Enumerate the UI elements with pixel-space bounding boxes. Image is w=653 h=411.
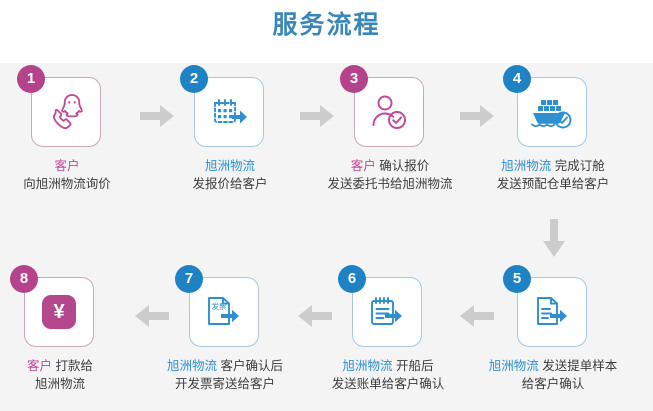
step-3-label: 客户 确认报价: [315, 158, 465, 175]
step-4-number-badge: 4: [503, 65, 531, 93]
step-2-description: 发报价给客户: [155, 175, 305, 193]
step-5-action: 发送提单样本: [542, 359, 617, 373]
step-2-label: 旭洲物流: [155, 158, 305, 175]
step-1-label: 客户: [0, 158, 142, 175]
invoice-arrow-icon: 发票: [201, 292, 247, 332]
step-7-card-wrap: 7 发票: [189, 277, 261, 349]
step-2-actor: 旭洲物流: [205, 159, 255, 173]
step-1-card-wrap: 1: [31, 77, 103, 149]
step-4-action: 完成订舱: [555, 159, 605, 173]
step-1-actor: 客户: [54, 159, 79, 173]
flow-step-5[interactable]: 5 旭洲物流 发送提单样本 给客户确认: [478, 277, 628, 393]
step-8-card-wrap: 8 ¥: [24, 277, 96, 349]
step-6-action: 开船后: [396, 359, 434, 373]
step-6-number-badge: 6: [338, 265, 366, 293]
qq-penguin-phone-icon: [42, 88, 90, 136]
yen-payment-icon: ¥: [42, 295, 76, 329]
arrow-4-to-5: [541, 217, 567, 261]
yen-symbol: ¥: [42, 295, 76, 329]
step-4-actor: 旭洲物流: [501, 159, 551, 173]
step-1-number-badge: 1: [17, 65, 45, 93]
step-3-description: 发送委托书给旭洲物流: [315, 175, 465, 193]
step-7-number-badge: 7: [175, 265, 203, 293]
step-3-number-badge: 3: [340, 65, 368, 93]
flow-diagram-panel: 1 客户 向旭洲物流询价: [0, 63, 653, 411]
step-7-actor: 旭洲物流: [167, 359, 217, 373]
step-6-label: 旭洲物流 开船后: [313, 358, 463, 375]
document-arrow-icon: [529, 292, 575, 332]
step-7-action: 客户确认后: [220, 359, 283, 373]
notepad-arrow-icon: [364, 292, 410, 332]
step-4-card-wrap: 4: [517, 77, 589, 149]
step-6-description: 发送账单给客户确认: [313, 375, 463, 393]
flow-step-3[interactable]: 3 客户 确认报价 发送委托书给旭洲物流: [315, 77, 465, 193]
flow-step-2[interactable]: 2: [155, 77, 305, 193]
step-5-label: 旭洲物流 发送提单样本: [478, 358, 628, 375]
step-3-card-wrap: 3: [354, 77, 426, 149]
quote-calendar-arrow-icon: [207, 92, 251, 132]
step-5-number-badge: 5: [503, 265, 531, 293]
step-8-description: 旭洲物流: [0, 375, 135, 393]
step-5-description: 给客户确认: [478, 375, 628, 393]
step-8-action: 打款给: [55, 359, 93, 373]
step-7-description: 开发票寄送给客户: [150, 375, 300, 393]
cargo-ship-check-icon: [529, 91, 575, 133]
step-8-label: 客户 打款给: [0, 358, 135, 375]
step-6-card-wrap: 6: [352, 277, 424, 349]
step-1-description: 向旭洲物流询价: [0, 175, 142, 193]
flow-step-1[interactable]: 1 客户 向旭洲物流询价: [0, 77, 142, 193]
step-6-actor: 旭洲物流: [342, 359, 392, 373]
flow-step-7[interactable]: 7 发票 旭洲物流 客户确认后 开发票寄送给客户: [150, 277, 300, 393]
step-4-label: 旭洲物流 完成订舱: [478, 158, 628, 175]
step-3-actor: 客户: [351, 159, 376, 173]
step-8-number-badge: 8: [10, 265, 38, 293]
flow-step-6[interactable]: 6 旭洲物流 开船后 发送账单给客户确认: [313, 277, 463, 393]
page-title: 服务流程: [0, 8, 653, 42]
step-7-label: 旭洲物流 客户确认后: [150, 358, 300, 375]
step-4-description: 发送预配仓单给客户: [478, 175, 628, 193]
flow-step-4[interactable]: 4: [478, 77, 628, 193]
flow-step-8[interactable]: 8 ¥ 客户 打款给 旭洲物流: [0, 277, 135, 393]
step-5-card-wrap: 5: [517, 277, 589, 349]
step-8-actor: 客户: [27, 359, 52, 373]
invoice-label-text: 发票: [212, 301, 227, 311]
step-5-actor: 旭洲物流: [489, 359, 539, 373]
step-2-card-wrap: 2: [194, 77, 266, 149]
step-2-number-badge: 2: [180, 65, 208, 93]
step-3-action: 确认报价: [379, 159, 429, 173]
user-check-icon: [367, 91, 411, 133]
